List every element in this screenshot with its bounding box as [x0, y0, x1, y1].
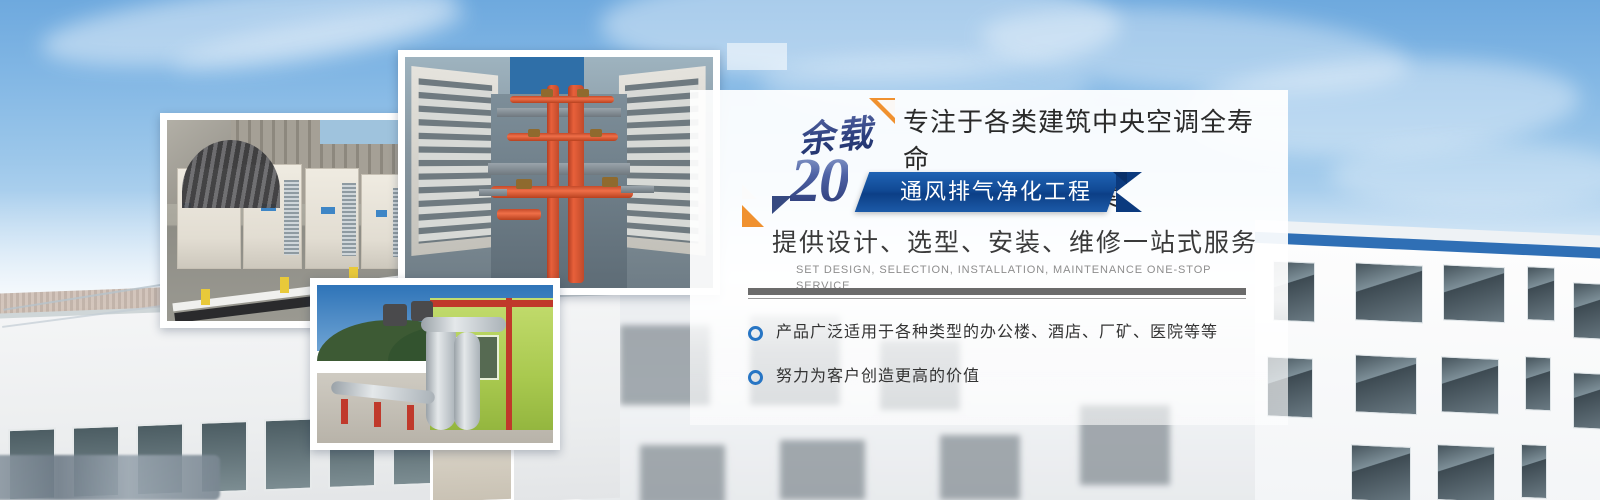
divider-thick	[748, 288, 1246, 295]
arrow-navy-icon	[772, 196, 792, 214]
bullet-ring-icon	[748, 326, 763, 341]
background-building-right	[1255, 240, 1600, 500]
list-item: 产品广泛适用于各种类型的办公楼、酒店、厂矿、医院等等	[748, 315, 1268, 351]
years-badge-number: 20	[790, 146, 848, 217]
hvac-promotional-banner: 余载 20 专注于各类建筑中央空调全寿命 周期整体解决方案 通风排气净化工程 提…	[0, 0, 1600, 500]
arrow-up-right-icon	[869, 98, 895, 124]
bullet-ring-icon	[748, 370, 763, 385]
list-item: 努力为客户创造更高的价值	[748, 359, 1268, 395]
photo-chiller-red-pipework	[398, 50, 720, 295]
subheadline: 提供设计、选型、安装、维修一站式服务	[772, 226, 1272, 260]
decorative-chip	[727, 43, 787, 70]
bullet-list: 产品广泛适用于各种类型的办公楼、酒店、厂矿、医院等等 努力为客户创造更高的价值	[748, 315, 1268, 403]
divider-thin	[748, 298, 1246, 299]
photo-rooftop-insulated-ducts	[310, 278, 560, 450]
ribbon-fold	[1113, 172, 1127, 184]
arrow-down-left-icon	[742, 205, 764, 227]
headline-line-1: 专注于各类建筑中央空调全寿命	[903, 104, 1273, 178]
list-item-label: 努力为客户创造更高的价值	[776, 367, 980, 387]
ribbon-label: 通风排气净化工程	[886, 177, 1106, 207]
parked-cars	[0, 455, 220, 500]
list-item-label: 产品广泛适用于各种类型的办公楼、酒店、厂矿、医院等等	[776, 323, 1218, 343]
